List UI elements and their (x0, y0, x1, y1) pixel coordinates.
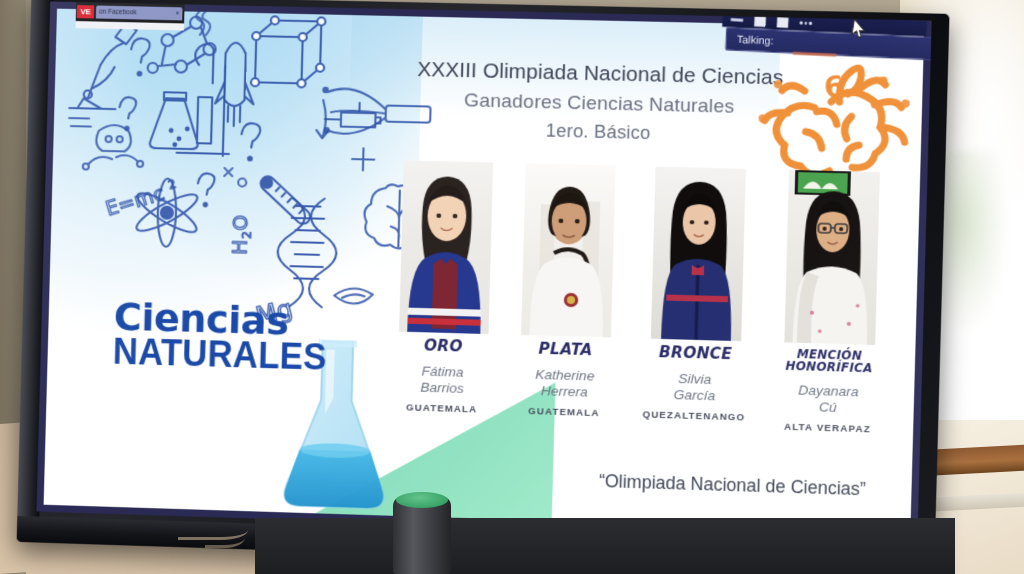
winner-name: Katherine Herrera (503, 366, 626, 402)
browser-tab-facebook[interactable]: on Facebook × (96, 5, 183, 20)
tv-stand-base (255, 518, 955, 574)
cube-lattice-doodle (251, 16, 326, 88)
winner-name-line2: Barrios (387, 379, 497, 398)
speaker-green-top (396, 492, 448, 508)
winner-place: ALTA VERAPAZ (756, 421, 899, 436)
browser-tab-label: on Facebook (99, 9, 174, 18)
live-badge: VE (77, 5, 94, 18)
battery-doodle (325, 102, 381, 127)
talking-label: Talking: (737, 33, 774, 47)
winner-name-line2: Cú (757, 398, 900, 418)
winner-photo (784, 170, 880, 345)
lips-doodle (334, 288, 373, 304)
winner-name-line2: Herrera (503, 382, 626, 402)
winner-name: Dayanara Cú (757, 382, 900, 419)
maximize-icon[interactable] (777, 17, 789, 28)
tv-monitor: E=mc 2 (17, 0, 950, 572)
winner-card: MENCIÓN HONORÍFICA Dayanara Cú ALTA VERA… (756, 169, 906, 436)
winner-name: Silvia García (630, 370, 760, 406)
h2o-doodle: H 2 O (227, 215, 254, 256)
more-options-icon[interactable] (800, 22, 812, 25)
winner-name: Fátima Barrios (387, 363, 498, 398)
winner-place: QUEZALTENANGO (629, 409, 759, 424)
svg-text:O: O (228, 215, 253, 231)
browser-tab-bar: VE on Facebook × (76, 2, 185, 23)
rocket-doodle (215, 42, 256, 126)
winner-card: PLATA Katherine Herrera GUATEMALA (503, 163, 632, 420)
svg-text:H: H (227, 239, 252, 255)
brand-line-2: NATURALES (112, 335, 327, 374)
cable-secondary (205, 527, 245, 548)
screenshot-stage: E=mc 2 (0, 0, 1024, 574)
svg-text:2: 2 (240, 231, 254, 239)
winner-card: ORO Fátima Barrios GUATEMALA (387, 160, 504, 416)
winner-card: BRONCE Silvia García QUEZALTENANGO (629, 166, 765, 424)
window-foliage (936, 150, 1006, 330)
winner-photo (399, 160, 493, 334)
winners-grid: ORO Fátima Barrios GUATEMALA (385, 160, 906, 488)
minimize-icon[interactable] (731, 18, 743, 21)
tv-screen: E=mc 2 (36, 1, 931, 539)
presentation-slide: E=mc 2 (36, 1, 931, 539)
plus-doodle (352, 148, 375, 171)
spring-doodle (196, 11, 211, 35)
winner-medal: PLATA (504, 341, 627, 360)
winner-place: GUATEMALA (387, 402, 497, 416)
x-o-doodle (224, 168, 247, 187)
winner-name-line2: García (630, 386, 760, 406)
brand-block: Ciencias NATURALES (112, 300, 337, 375)
winner-medal: MENCIÓN HONORÍFICA (758, 348, 901, 376)
winner-medal: ORO (388, 337, 498, 356)
close-icon[interactable]: × (175, 10, 179, 17)
orange-brain-logo: 6 (751, 53, 920, 181)
winner-place: GUATEMALA (503, 405, 626, 420)
winner-photo (651, 167, 746, 342)
winner-photo (521, 163, 616, 337)
skull-doodle (83, 124, 144, 171)
dna-doodle (276, 197, 338, 307)
equals-doodle (69, 118, 91, 127)
restore-icon[interactable] (754, 16, 766, 27)
winner-medal: BRONCE (631, 344, 761, 363)
svg-text:6: 6 (822, 69, 846, 105)
